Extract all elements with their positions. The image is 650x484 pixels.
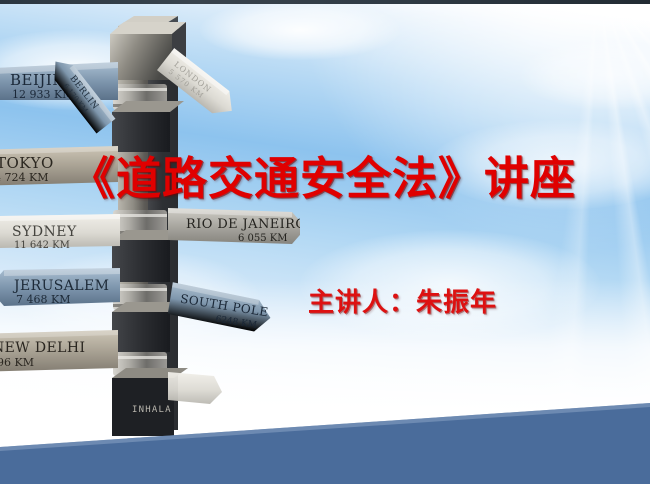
slide-subtitle: 主讲人：朱振年 bbox=[308, 282, 497, 319]
base-marking-label: INHALA bbox=[132, 405, 172, 415]
presentation-slide: INHALA LONDON 5 570 KM BEIJING 12 933 KM… bbox=[0, 0, 650, 484]
sign-arm-jerusalem: JERUSALEM 7 468 KM bbox=[0, 268, 120, 306]
sign-distance-sydney: 11 642 KM bbox=[14, 240, 70, 251]
sign-label-sydney: SYDNEY bbox=[12, 224, 77, 240]
signpost-image: INHALA LONDON 5 570 KM BEIJING 12 933 KM… bbox=[0, 0, 300, 440]
sign-arm-new-delhi: NEW DELHI 296 KM bbox=[0, 330, 118, 372]
sign-arm-lower-blade bbox=[168, 372, 222, 404]
sign-arm-sydney: SYDNEY 11 642 KM bbox=[0, 214, 120, 251]
sign-label-jerusalem: JERUSALEM bbox=[12, 278, 109, 294]
sign-distance-tokyo: 4 724 KM bbox=[0, 171, 48, 184]
sign-distance-new-delhi: 296 KM bbox=[0, 356, 34, 369]
slide-title: 《道路交通安全法》讲座 bbox=[70, 142, 615, 207]
sign-label-new-delhi: NEW DELHI bbox=[0, 340, 85, 356]
sign-arm-south-pole: SOUTH POLE 6248 KM bbox=[167, 282, 273, 334]
top-border-strip bbox=[0, 0, 650, 4]
sign-label-tokyo: TOKYO bbox=[0, 154, 54, 172]
sign-label-rio: RIO DE JANEIRO bbox=[186, 217, 300, 232]
sign-distance-jerusalem: 7 468 KM bbox=[16, 293, 70, 306]
sign-arm-rio: RIO DE JANEIRO 6 055 KM bbox=[168, 208, 300, 244]
sign-distance-rio: 6 055 KM bbox=[238, 233, 288, 244]
